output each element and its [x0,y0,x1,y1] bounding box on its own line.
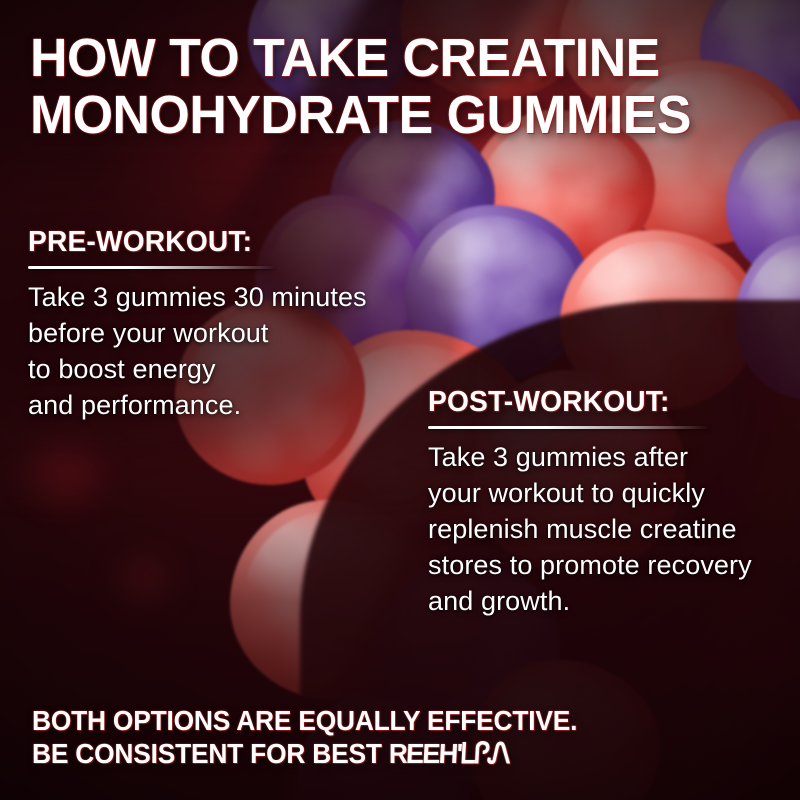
title-line-2: MONOHYDRATE GUMMIES [30,87,721,144]
pre-workout-line-1: Take 3 gummies 30 minutes [28,279,428,315]
section-post-workout: POST-WORKOUT: Take 3 gummies after your … [428,386,790,619]
title-line-1: HOW TO TAKE CREATINE [30,30,721,87]
pre-workout-line-3: to boost energy [28,351,428,387]
pre-workout-body: Take 3 gummies 30 minutes before your wo… [28,279,428,423]
pre-workout-line-2: before your workout [28,315,428,351]
footer-line-2-text: BE CONSISTENT FOR BEST R [32,738,408,769]
pre-workout-line-4: and performance. [28,387,428,423]
pre-workout-divider [28,266,274,269]
post-workout-divider [428,426,708,429]
post-workout-line-5: and growth. [428,583,790,619]
section-pre-workout: PRE-WORKOUT: Take 3 gummies 30 minutes b… [28,226,428,423]
post-workout-line-4: stores to promote recovery [428,547,790,583]
footer-line-1: BOTH OPTIONS ARE EQUALLY EFFECTIVE. [32,704,577,737]
content-layer: HOW TO TAKE CREATINE MONOHYDRATE GUMMIES… [0,0,800,800]
infographic-poster: HOW TO TAKE CREATINE MONOHYDRATE GUMMIES… [0,0,800,800]
footer-line-2: BE CONSISTENT FOR BEST REEHʹᏞᎵᏁ [32,737,577,770]
page-title: HOW TO TAKE CREATINE MONOHYDRATE GUMMIES [30,30,721,144]
post-workout-line-3: replenish muscle creatine [428,511,790,547]
post-workout-heading: POST-WORKOUT: [428,386,779,419]
post-workout-line-2: your workout to quickly [428,475,790,511]
post-workout-line-1: Take 3 gummies after [428,439,790,475]
pre-workout-heading: PRE-WORKOUT: [28,226,416,259]
footer-callout: BOTH OPTIONS ARE EQUALLY EFFECTIVE. BE C… [32,704,577,770]
post-workout-body: Take 3 gummies after your workout to qui… [428,439,790,619]
footer-garbled-text: EEHʹᏞᎵᏁ [405,737,510,770]
